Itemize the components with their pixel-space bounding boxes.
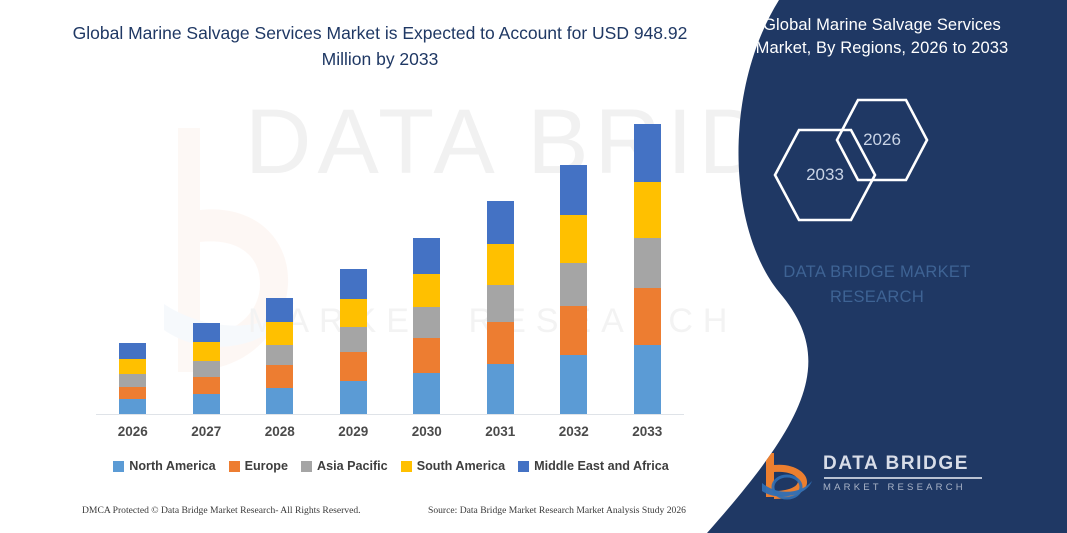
infographic-canvas: DATA BRIDGE MARKET RESEARCH Global Marin… [0,0,1067,533]
legend-item-south-america[interactable]: South America [401,459,505,473]
bar-segment-2030-north-america [413,373,440,414]
bar-segment-2031-asia-pacific [487,285,514,322]
bar-segment-2028-asia-pacific [266,345,293,365]
panel-brand-line-1: DATA BRIDGE MARKET [783,263,970,281]
bar-segment-2026-europe [119,387,146,399]
bar-segment-2031-middle-east-and-africa [487,201,514,244]
legend-swatch-icon [113,461,124,472]
x-axis-label-2032: 2032 [544,424,604,439]
bar-2028 [266,298,293,414]
bar-segment-2032-europe [560,306,587,355]
bar-segment-2032-south-america [560,215,587,263]
bar-segment-2031-south-america [487,244,514,285]
bar-segment-2026-south-america [119,359,146,374]
legend-swatch-icon [229,461,240,472]
bar-segment-2028-north-america [266,388,293,414]
bar-segment-2033-south-america [634,182,661,238]
bar-segment-2028-south-america [266,322,293,345]
bar-2027 [193,323,220,414]
legend-label: Middle East and Africa [534,459,669,473]
x-axis-label-2029: 2029 [323,424,383,439]
legend-label: North America [129,459,215,473]
bar-2029 [340,269,367,413]
bar-segment-2027-europe [193,377,220,394]
hexagon-2033-label: 2033 [772,127,878,223]
logo-name: DATA BRIDGE [823,453,982,475]
bar-segment-2030-europe [413,338,440,373]
bar-segment-2032-north-america [560,355,587,414]
footer-source: Source: Data Bridge Market Research Mark… [428,505,686,516]
panel-title-line-1: Global Marine Salvage Services [763,16,1001,34]
hexagon-2033: 2033 [772,127,878,223]
footer: DMCA Protected © Data Bridge Market Rese… [0,505,760,527]
legend-swatch-icon [518,461,529,472]
x-axis-label-2026: 2026 [103,424,163,439]
bar-segment-2027-north-america [193,394,220,414]
bar-segment-2032-asia-pacific [560,263,587,306]
bar-segment-2026-north-america [119,399,146,413]
bar-segment-2030-south-america [413,274,440,308]
x-axis-label-2033: 2033 [617,424,677,439]
bar-segment-2029-asia-pacific [340,327,367,352]
legend-label: South America [417,459,505,473]
data-bridge-logo-text: DATA BRIDGE MARKET RESEARCH [823,453,982,493]
panel-title: Global Marine Salvage Services Market, B… [715,14,1049,61]
chart-legend: North AmericaEuropeAsia PacificSouth Ame… [96,455,686,477]
x-axis-label-2028: 2028 [250,424,310,439]
logo-subtitle: MARKET RESEARCH [823,482,982,493]
bar-segment-2028-middle-east-and-africa [266,298,293,322]
bar-2031 [487,201,514,413]
bar-segment-2029-europe [340,352,367,381]
footer-copyright: DMCA Protected © Data Bridge Market Rese… [82,505,361,516]
x-axis-label-2030: 2030 [397,424,457,439]
bar-segment-2027-asia-pacific [193,361,220,377]
legend-swatch-icon [401,461,412,472]
bar-segment-2033-europe [634,288,661,345]
bar-segment-2032-middle-east-and-africa [560,165,587,215]
bar-segment-2033-north-america [634,345,661,414]
legend-item-asia-pacific[interactable]: Asia Pacific [301,459,388,473]
bar-segment-2033-middle-east-and-africa [634,124,661,182]
bar-segment-2030-middle-east-and-africa [413,238,440,274]
chart-area: DATA BRIDGE MARKET RESEARCH Global Marin… [0,0,760,533]
bar-2033 [634,124,661,414]
bar-2026 [119,343,146,413]
panel-title-line-2: Market, By Regions, 2026 to 2033 [715,37,1049,60]
hexagon-group: 2026 2033 [687,95,1067,210]
bar-2030 [413,238,440,414]
chart-plot-area [96,110,686,415]
x-axis-labels: 20262027202820292030203120322033 [96,424,686,446]
x-axis-label-2031: 2031 [470,424,530,439]
bar-segment-2033-asia-pacific [634,238,661,288]
bar-segment-2029-south-america [340,299,367,328]
bar-segment-2029-middle-east-and-africa [340,269,367,298]
bar-segment-2026-asia-pacific [119,374,146,386]
bar-2032 [560,165,587,414]
bar-segment-2029-north-america [340,381,367,414]
legend-item-north-america[interactable]: North America [113,459,215,473]
bar-segment-2031-europe [487,322,514,364]
legend-item-europe[interactable]: Europe [229,459,288,473]
data-bridge-logo-icon [760,451,814,501]
legend-label: Asia Pacific [317,459,388,473]
bar-segment-2030-asia-pacific [413,307,440,337]
bar-segment-2031-north-america [487,364,514,414]
bar-segment-2027-middle-east-and-africa [193,323,220,343]
logo-divider [824,477,982,479]
x-axis-line [96,414,684,416]
bar-segment-2028-europe [266,365,293,387]
bar-segment-2026-middle-east-and-africa [119,343,146,359]
page-title: Global Marine Salvage Services Market is… [70,20,690,73]
legend-swatch-icon [301,461,312,472]
x-axis-label-2027: 2027 [176,424,236,439]
legend-label: Europe [245,459,288,473]
bar-segment-2027-south-america [193,342,220,361]
legend-item-middle-east-and-africa[interactable]: Middle East and Africa [518,459,669,473]
